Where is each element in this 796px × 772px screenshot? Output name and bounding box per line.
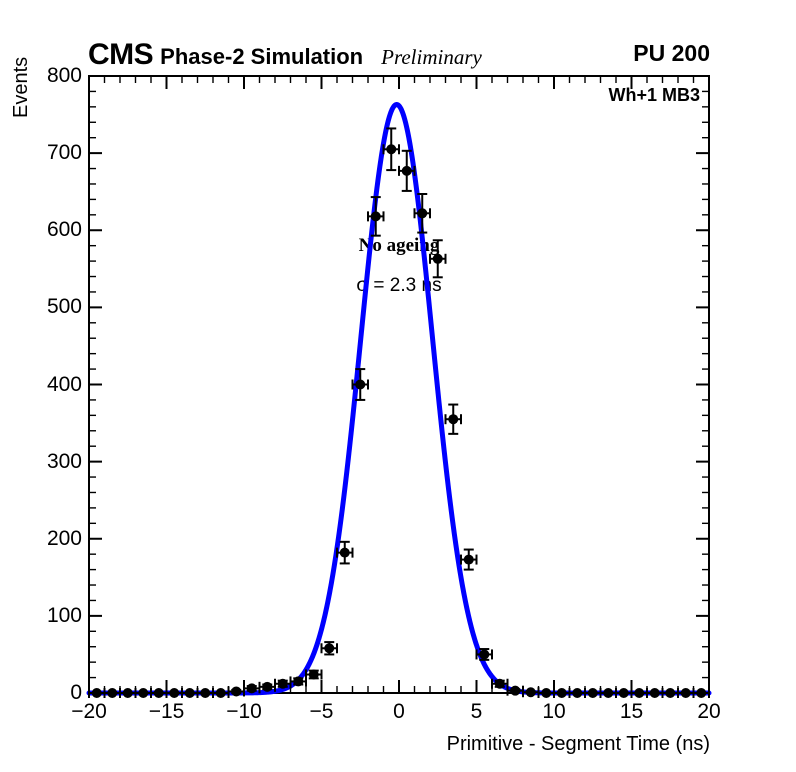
data-point bbox=[479, 649, 489, 659]
data-point bbox=[247, 683, 257, 693]
data-point bbox=[138, 688, 148, 698]
data-points-group bbox=[89, 128, 709, 698]
data-point bbox=[154, 688, 164, 698]
data-point bbox=[448, 414, 458, 424]
data-point bbox=[123, 688, 133, 698]
data-point bbox=[572, 688, 582, 698]
data-point bbox=[603, 688, 613, 698]
data-point bbox=[216, 688, 226, 698]
data-point bbox=[340, 548, 350, 558]
data-point bbox=[262, 682, 272, 692]
data-point bbox=[324, 643, 334, 653]
plot-graphics bbox=[0, 0, 796, 772]
data-point bbox=[185, 688, 195, 698]
data-point bbox=[510, 686, 520, 696]
data-point bbox=[696, 688, 706, 698]
data-point bbox=[665, 688, 675, 698]
data-point bbox=[650, 688, 660, 698]
data-point bbox=[231, 686, 241, 696]
data-point bbox=[495, 679, 505, 689]
data-point bbox=[681, 688, 691, 698]
data-point bbox=[92, 688, 102, 698]
data-point bbox=[588, 688, 598, 698]
data-point bbox=[464, 555, 474, 565]
data-point bbox=[634, 688, 644, 698]
data-point bbox=[526, 687, 536, 697]
data-point bbox=[107, 688, 117, 698]
data-point bbox=[402, 166, 412, 176]
data-point bbox=[557, 688, 567, 698]
data-point bbox=[309, 669, 319, 679]
data-point bbox=[200, 688, 210, 698]
data-point bbox=[619, 688, 629, 698]
data-point bbox=[541, 688, 551, 698]
data-point bbox=[278, 679, 288, 689]
gaussian-fit-curve bbox=[89, 105, 709, 693]
data-point bbox=[293, 676, 303, 686]
data-point bbox=[433, 254, 443, 264]
plot-canvas: CMSPhase-2 SimulationPreliminary PU 200 … bbox=[0, 0, 796, 772]
data-point bbox=[417, 208, 427, 218]
data-point bbox=[355, 380, 365, 390]
data-point bbox=[386, 144, 396, 154]
data-point bbox=[169, 688, 179, 698]
data-point bbox=[371, 211, 381, 221]
